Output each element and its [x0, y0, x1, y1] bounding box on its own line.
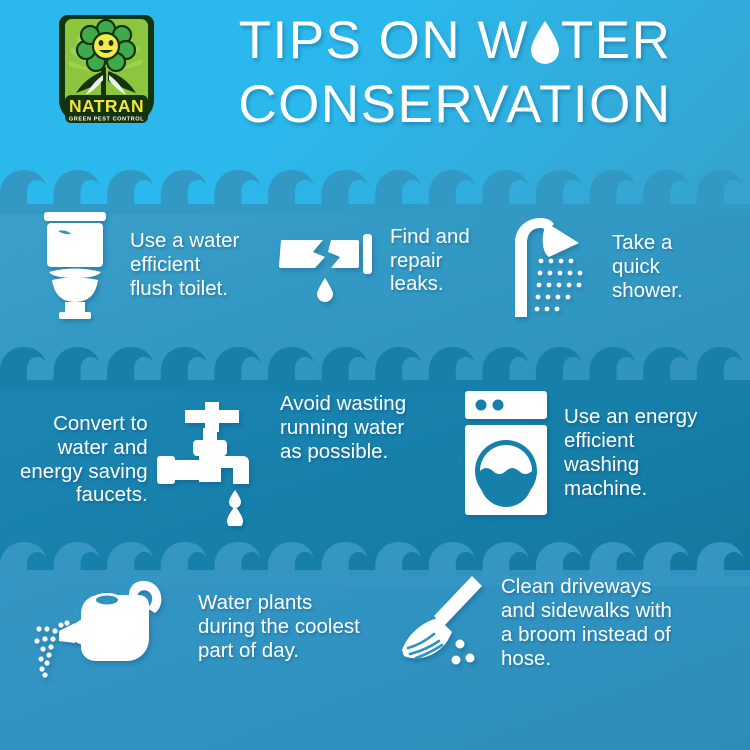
- tip-washer-text: Use an energy efficient washing machine.: [564, 405, 697, 501]
- broom-icon: [398, 568, 493, 678]
- toilet-icon: [30, 206, 120, 324]
- tip-faucet: Convert to water and energy saving fauce…: [20, 392, 295, 527]
- title-text-after-drop: TER: [561, 11, 672, 70]
- tip-shower-text: Take a quick shower.: [612, 231, 683, 303]
- logo-tagline: GREEN PEST CONTROL: [69, 117, 144, 123]
- wave-divider-2: [0, 345, 750, 391]
- infographic-poster: NATRAN GREEN PEST CONTROL TIPS ON W TER …: [0, 0, 750, 750]
- tip-water-plants: Water plants during the coolest part of …: [32, 572, 392, 682]
- page-title: TIPS ON W TER CONSERVATION: [170, 14, 740, 132]
- tip-leak: Find and repair leaks.: [277, 218, 492, 303]
- title-text-before-drop: TIPS ON W: [239, 11, 529, 70]
- tip-toilet-text: Use a water efficient flush toilet.: [130, 229, 239, 301]
- tip-shower: Take a quick shower.: [505, 212, 735, 322]
- natran-logo[interactable]: NATRAN GREEN PEST CONTROL: [54, 9, 159, 129]
- shower-head-icon: [505, 212, 600, 322]
- tip-toilet: Use a water efficient flush toilet.: [30, 206, 275, 324]
- tip-faucet-text: Convert to water and energy saving fauce…: [20, 412, 148, 508]
- logo-name: NATRAN: [69, 96, 144, 116]
- water-drop-icon: [530, 20, 560, 74]
- tip-avoid-text: Avoid wasting running water as possible.: [280, 392, 406, 464]
- tip-plants-text: Water plants during the coolest part of …: [198, 591, 360, 663]
- tip-washing-machine: Use an energy efficient washing machine.: [462, 388, 750, 518]
- watering-can-icon: [32, 572, 192, 682]
- tip-broom-text: Clean driveways and sidewalks with a bro…: [501, 575, 672, 671]
- tip-broom: Clean driveways and sidewalks with a bro…: [398, 568, 748, 678]
- tip-leak-text: Find and repair leaks.: [390, 225, 470, 297]
- washing-machine-icon: [462, 388, 550, 518]
- poster-header: NATRAN GREEN PEST CONTROL TIPS ON W TER …: [0, 0, 750, 168]
- title-line-1: TIPS ON W TER: [170, 14, 740, 74]
- faucet-icon: [154, 392, 269, 527]
- tip-avoid-waste: Avoid wasting running water as possible.: [280, 392, 455, 464]
- broken-pipe-icon: [277, 218, 382, 303]
- title-line-2: CONSERVATION: [170, 78, 740, 132]
